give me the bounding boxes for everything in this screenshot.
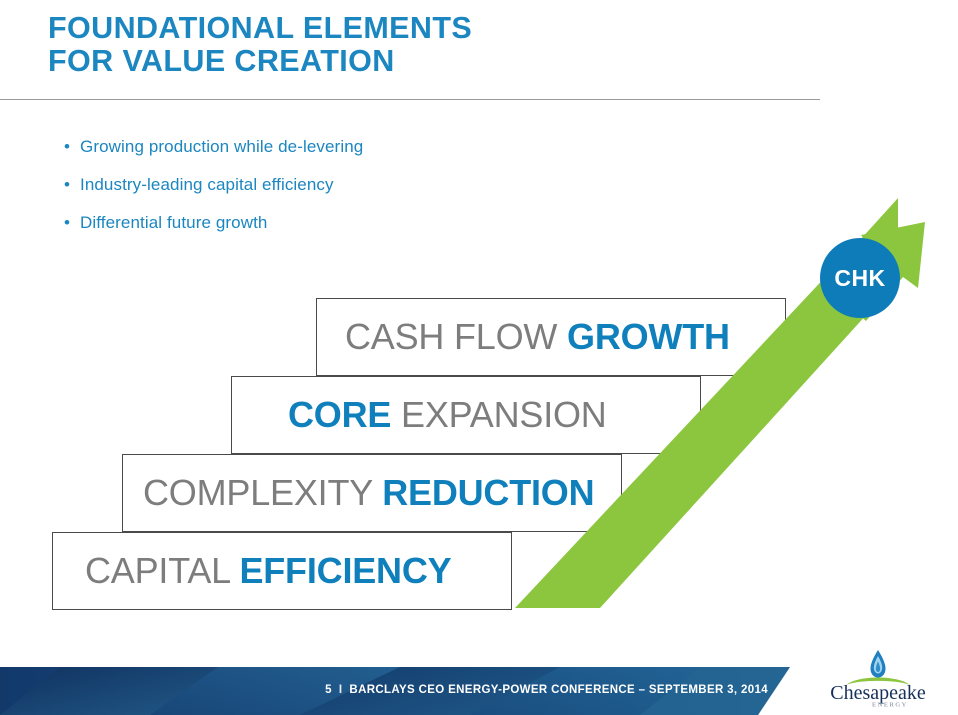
chk-badge-label: CHK	[834, 267, 885, 290]
growth-arrow-icon	[0, 0, 958, 660]
chk-badge: CHK	[820, 238, 900, 318]
logo-subtext: ENERGY	[872, 702, 908, 709]
chesapeake-energy-logo: Chesapeake ENERGY	[812, 647, 944, 709]
footer-separator: I	[339, 685, 343, 697]
flame-icon	[871, 650, 886, 678]
footer-caption: 5 I BARCLAYS CEO ENERGY-POWER CONFERENCE…	[0, 667, 790, 715]
staircase-diagram: CASH FLOW GROWTH CORE EXPANSION COMPLEXI…	[0, 0, 958, 660]
slide-canvas: FOUNDATIONAL ELEMENTS FOR VALUE CREATION…	[0, 0, 958, 715]
footer-conference-label: BARCLAYS CEO ENERGY-POWER CONFERENCE – S…	[349, 685, 768, 697]
footer-page-number: 5	[325, 685, 332, 697]
logo-graphic: Chesapeake ENERGY	[812, 647, 944, 709]
